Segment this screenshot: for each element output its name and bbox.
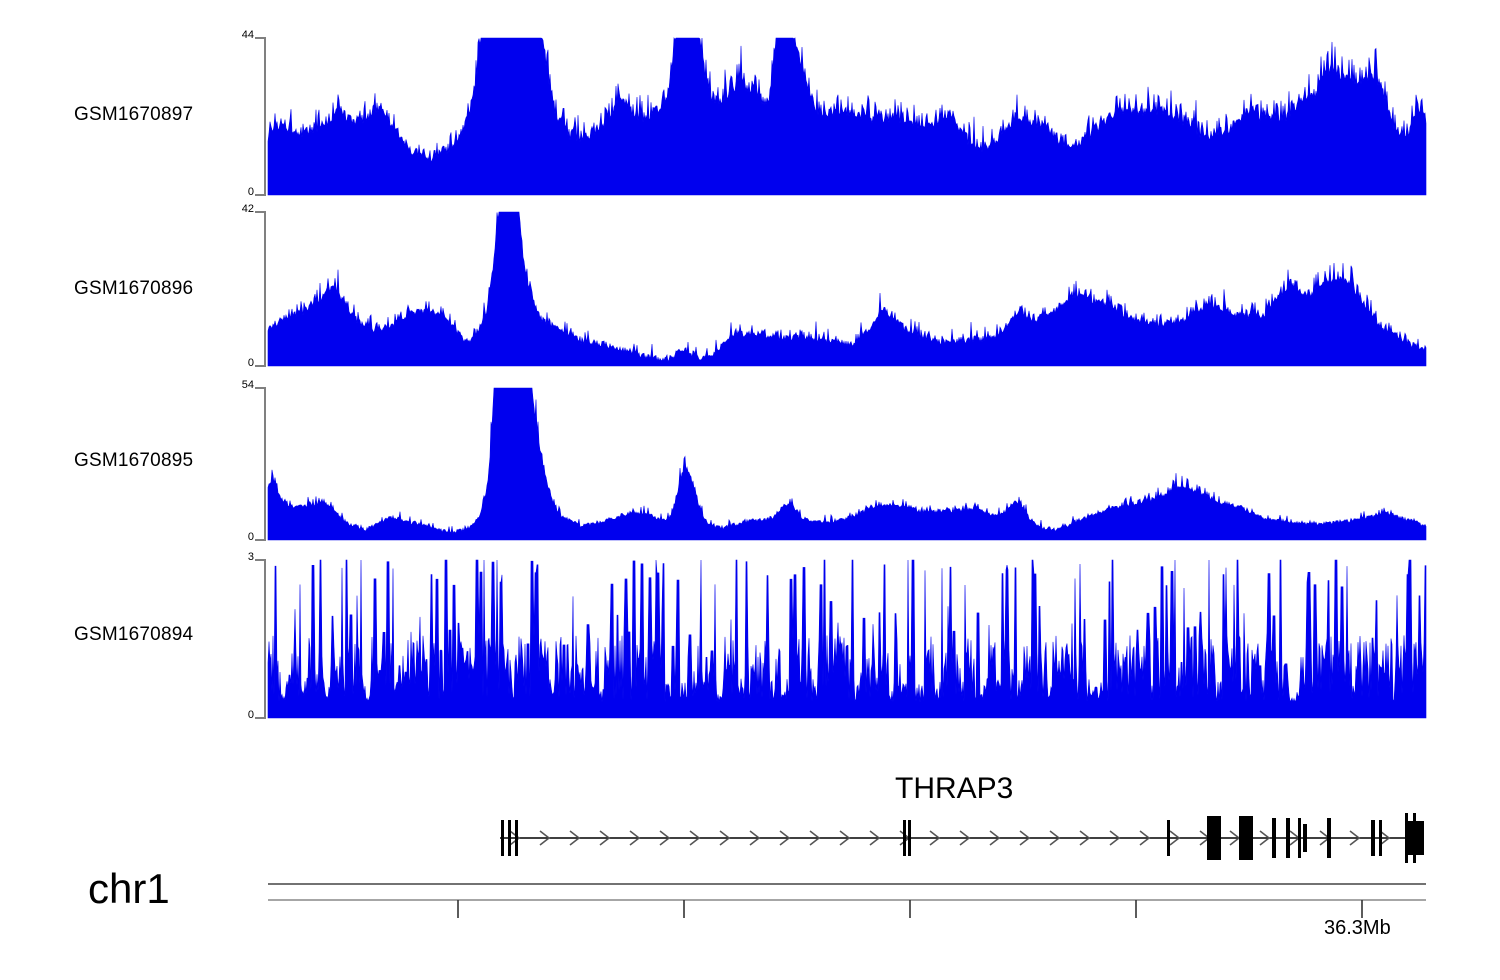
gene-exon <box>1327 818 1331 858</box>
coverage-histogram-GSM1670897 <box>268 38 1426 195</box>
genome-coordinate-axis <box>0 876 1500 936</box>
gene-exon <box>1207 816 1221 860</box>
gene-exon <box>1406 821 1424 855</box>
gene-exon <box>1272 818 1276 858</box>
coverage-histogram-GSM1670895 <box>268 388 1426 540</box>
genome-browser-view: GSM1670897 44 0 GSM1670896 42 0 GSM16708… <box>0 0 1500 980</box>
gene-exon <box>1167 820 1170 856</box>
gene-exon <box>1303 824 1307 852</box>
gene-exon <box>908 820 911 856</box>
gene-model-track <box>0 760 1500 890</box>
gene-exon <box>1379 820 1382 856</box>
track-axis-bracket-GSM1670896 <box>255 212 266 366</box>
coverage-histogram-GSM1670896 <box>268 212 1426 366</box>
coordinate-tick-label: 36.3Mb <box>1324 917 1391 940</box>
gene-exon <box>515 820 518 856</box>
track-axis-bracket-GSM1670894 <box>255 560 266 718</box>
gene-exon <box>501 820 504 856</box>
track-axis-bracket-GSM1670895 <box>255 388 266 540</box>
gene-exon <box>508 820 511 856</box>
coverage-tracks-canvas <box>0 0 1500 760</box>
gene-exon <box>1286 818 1290 858</box>
gene-exon <box>1239 816 1253 860</box>
track-axis-bracket-GSM1670897 <box>255 38 266 195</box>
gene-exon <box>1371 820 1375 856</box>
coverage-histogram-GSM1670894 <box>268 560 1426 718</box>
gene-exon <box>903 820 906 856</box>
gene-exon <box>1298 818 1301 858</box>
